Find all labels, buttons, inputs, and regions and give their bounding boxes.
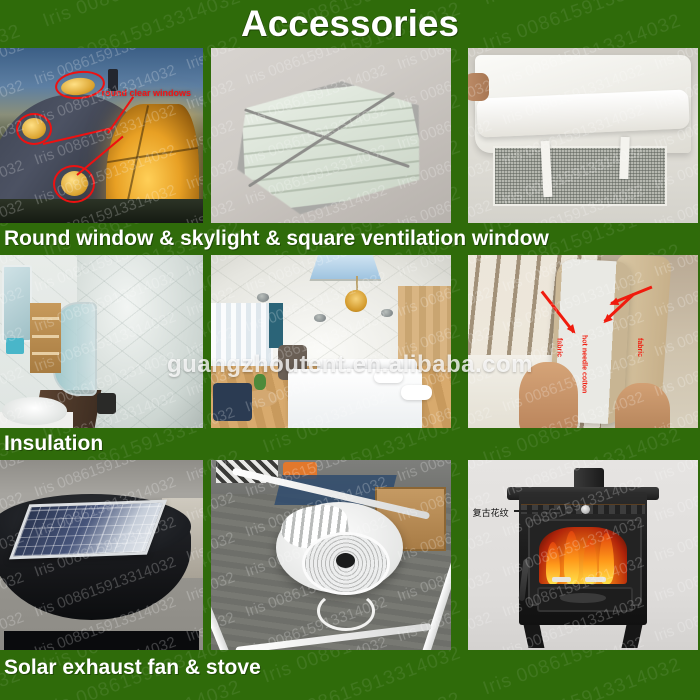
- hand: [468, 73, 489, 101]
- stove-leg-right: [622, 625, 643, 648]
- dome-ground: [0, 199, 203, 224]
- image-insulated-dome-bedroom-with-skylight[interactable]: Iris 008615913314032 Iris 00861591331403…: [211, 255, 451, 428]
- image-skylight-panel-on-dome-ceiling[interactable]: Iris 008615913314032 Iris 00861591331403…: [211, 48, 451, 223]
- caption-row-3-text: Solar exhaust fan & stove: [4, 656, 261, 680]
- label-hot-needle-cotton: hot needle cotton: [581, 335, 588, 393]
- annotation-retro-pattern: 复古花纹: [473, 506, 509, 519]
- image-black-round-solar-exhaust-fan[interactable]: Iris 008615913314032 Iris 00861591331403…: [0, 460, 203, 650]
- gallery-row-1: round clear windows Iris 008615913314032…: [0, 48, 700, 223]
- pillow-1: [401, 385, 432, 401]
- solar-panel: [9, 499, 167, 559]
- image-geodesic-dome-tent-with-round-windows[interactable]: round clear windows Iris 008615913314032…: [0, 48, 203, 223]
- caption-row-1-text: Round window & skylight & square ventila…: [4, 227, 549, 251]
- stove-glass-window: [539, 527, 626, 584]
- vent-mesh-screen: [493, 146, 667, 206]
- mounting-plate: [4, 631, 199, 650]
- pillow-2: [374, 371, 403, 383]
- blue-cup: [6, 338, 24, 354]
- gallery-row-2: Iris 008615913314032 Iris 00861591331403…: [0, 255, 700, 428]
- annotation-round-clear-windows: round clear windows: [102, 88, 192, 98]
- vent-strap-right: [619, 137, 629, 179]
- stove-leg-left: [523, 625, 544, 648]
- gallery-row-3: Iris 008615913314032 Iris 00861591331403…: [0, 460, 700, 650]
- pendant-lamp: [345, 290, 367, 312]
- image-insulated-dome-bathroom-interior[interactable]: Iris 008615913314032 Iris 00861591331403…: [0, 255, 203, 428]
- solar-fan-photo: [0, 460, 203, 650]
- white-fan-photo: [211, 460, 451, 650]
- image-insulation-material-cross-section-in-hand[interactable]: fabric hot needle cotton fabric Iris 008…: [468, 255, 698, 428]
- bathroom-photo: [0, 255, 203, 428]
- label-fabric-right: fabric: [636, 338, 643, 357]
- ventilation-window-photo: [468, 48, 698, 223]
- caption-row-2: Insulation: [0, 428, 700, 460]
- image-cast-iron-wood-burning-stove-with-fire[interactable]: 复古花纹 Iris 008615913314032 Iris 008615913…: [468, 460, 698, 650]
- section-windows: round clear windows Iris 008615913314032…: [0, 48, 700, 255]
- section-insulation: Iris 008615913314032 Iris 00861591331403…: [0, 255, 700, 460]
- label-fabric-left: fabric: [555, 338, 562, 357]
- bucket: [97, 393, 115, 414]
- annotation-circle-bottom: [53, 165, 95, 203]
- skylight-photo: [211, 48, 451, 223]
- ash-drawer-handle: [560, 593, 606, 603]
- page-title-bar: Accessories: [0, 0, 700, 48]
- caption-row-1: Round window & skylight & square ventila…: [0, 223, 700, 255]
- wooden-shelf: [30, 303, 60, 372]
- insulation-sample-photo: fabric hot needle cotton fabric: [468, 255, 698, 428]
- dome-tent-photo: round clear windows: [0, 48, 203, 223]
- ceiling-skylight: [309, 255, 381, 281]
- hand-right: [615, 383, 670, 428]
- armchair: [213, 383, 251, 421]
- image-square-ventilation-window-with-mesh[interactable]: Iris 008615913314032 Iris 00861591331403…: [468, 48, 698, 223]
- bedroom-photo: [211, 255, 451, 428]
- hand-left: [519, 362, 579, 428]
- washbasin: [2, 397, 67, 425]
- skylight-cross-bracing: [235, 73, 424, 206]
- caption-row-2-text: Insulation: [4, 432, 103, 456]
- mirror: [2, 265, 32, 342]
- product-accessories-page: Accessories: [0, 0, 700, 700]
- stove-air-control-knob: [581, 505, 590, 514]
- section-fan-and-stove: Iris 008615913314032 Iris 00861591331403…: [0, 460, 700, 686]
- page-title: Accessories: [241, 4, 459, 44]
- flower-vase: [254, 374, 266, 390]
- image-white-exhaust-fan-on-tripod-stand[interactable]: Iris 008615913314032 Iris 00861591331403…: [211, 460, 451, 650]
- annotation-circle-left: [16, 113, 52, 145]
- annotation-leader-line: [514, 510, 565, 512]
- power-cord: [317, 591, 376, 631]
- ceiling-vent-1: [257, 293, 269, 302]
- caption-row-3: Solar exhaust fan & stove: [0, 650, 700, 686]
- stove-photo: 复古花纹: [468, 460, 698, 650]
- blue-drape: [269, 303, 283, 348]
